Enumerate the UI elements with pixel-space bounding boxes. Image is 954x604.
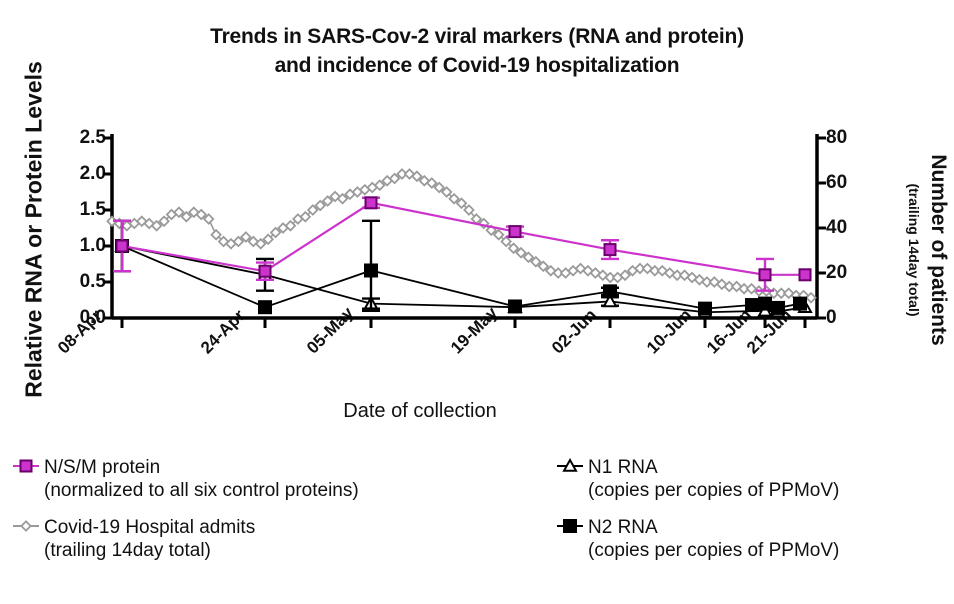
legend-label-admits-line2: (trailing 14day total) (44, 539, 255, 562)
legend-label-n2-line1: N2 RNA (588, 516, 839, 539)
data-point-n2-rna-3 (509, 300, 521, 312)
data-point-n2-rna-2 (365, 264, 377, 276)
plot-area (0, 0, 954, 604)
data-point-n2-rna-1 (259, 301, 271, 313)
data-point-n2-rna-6 (746, 299, 758, 311)
legend-item-n1: N1 RNA (copies per copies of PPMoV) (588, 456, 839, 502)
legend-label-admits-line1: Covid-19 Hospital admits (44, 516, 255, 539)
legend-label-protein-line2: (normalized to all six control proteins) (44, 479, 359, 502)
data-point-nsm-protein-3 (510, 226, 521, 237)
data-point-nsm-protein-0 (117, 241, 128, 252)
data-point-n2-rna-9 (794, 298, 806, 310)
data-point-n2-rna-8 (772, 302, 784, 314)
data-point-nsm-protein-4 (605, 244, 616, 255)
data-point-nsm-protein-2 (366, 197, 377, 208)
data-point-nsm-protein-5 (760, 269, 771, 280)
legend-label-n2-line2: (copies per copies of PPMoV) (588, 539, 839, 562)
legend-label-n1-line2: (copies per copies of PPMoV) (588, 479, 839, 502)
legend-item-n2: N2 RNA (copies per copies of PPMoV) (588, 516, 839, 562)
legend-item-protein: N/S/M protein (normalized to all six con… (44, 456, 359, 502)
legend-item-admits: Covid-19 Hospital admits (trailing 14day… (44, 516, 255, 562)
data-point-nsm-protein-1 (260, 266, 271, 277)
legend-label-n1-line1: N1 RNA (588, 456, 839, 479)
chart-figure: Trends in SARS-Cov-2 viral markers (RNA … (0, 0, 954, 604)
data-point-nsm-protein-6 (800, 269, 811, 280)
data-point-n2-rna-4 (604, 285, 616, 297)
legend-label-protein-line1: N/S/M protein (44, 456, 359, 479)
data-point-n2-rna-7 (759, 298, 771, 310)
series-markers-covid-admits (107, 169, 815, 302)
data-point-n2-rna-5 (699, 303, 711, 315)
